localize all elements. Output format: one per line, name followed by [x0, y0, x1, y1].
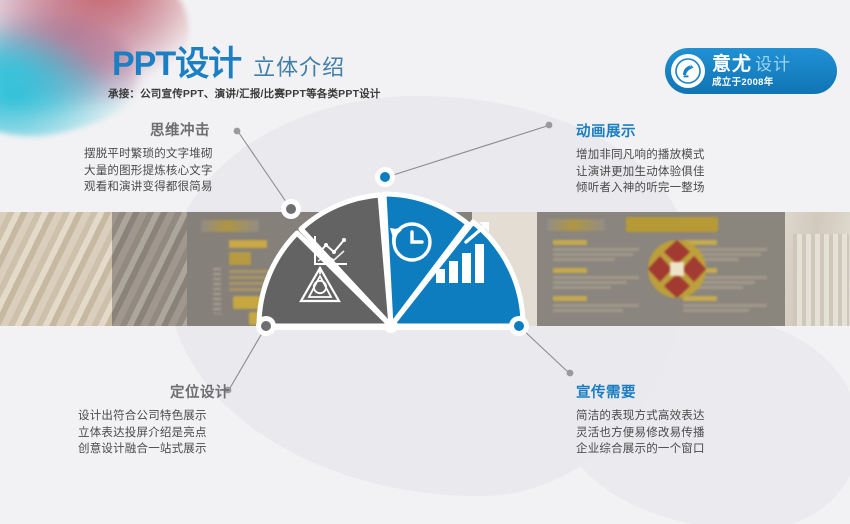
fan-node-top-left[interactable]: [281, 199, 301, 219]
slide-header: PPT设计 立体介绍 承接：公司宣传PPT、演讲/汇报/比赛PPT等各类PPT设…: [0, 0, 850, 110]
thumb-vertical-text: [213, 268, 221, 314]
page-title-sub: 立体介绍: [253, 50, 345, 82]
brand-name-primary: 意尤: [712, 55, 752, 74]
callout-bottom-right-line-1: 简洁的表现方式高效表达: [576, 408, 796, 425]
photo-building-right: [785, 212, 850, 326]
photo-wood-dark: [112, 212, 187, 326]
callout-bottom-right: 宣传需要 简洁的表现方式高效表达 灵活也方便易修改易传播 企业综合展示的一个窗口: [576, 381, 796, 458]
brand-mark-circle: [671, 54, 705, 88]
fan-node-bottom-left[interactable]: [256, 316, 276, 336]
callout-top-right-line-1: 增加非同凡响的播放模式: [576, 147, 796, 164]
page-title-main: PPT设计: [112, 47, 241, 81]
callout-bottom-left-title: 定位设计: [78, 381, 288, 402]
brand-logo-badge[interactable]: 意尤 设计 成立于2008年: [665, 48, 837, 94]
callout-top-left-line-3: 观看和演讲变得都很简易: [84, 179, 284, 196]
callout-top-left: 思维冲击 摆脱平时繁琐的文字堆砌 大量的图形提炼核心文字 观看和演讲变得都很简易: [84, 119, 284, 196]
slide-canvas: PPT设计 立体介绍 承接：公司宣传PPT、演讲/汇报/比赛PPT等各类PPT设…: [0, 0, 850, 524]
fan-node-top-right[interactable]: [375, 167, 395, 187]
fan-node-bottom-right[interactable]: [509, 316, 529, 336]
connector-dot-top-right: [546, 122, 553, 129]
callout-bottom-left: 定位设计 设计出符合公司特色展示 立体表达投屏介绍是亮点 创意设计融合一站式展示: [78, 381, 288, 458]
connector-dot-bottom-right: [567, 370, 574, 377]
brand-established: 成立于2008年: [712, 78, 791, 88]
thumb2-hex-graphic: [646, 238, 708, 300]
callout-bottom-right-title: 宣传需要: [576, 381, 796, 402]
callout-bottom-right-line-3: 企业综合展示的一个窗口: [576, 441, 796, 458]
page-subtitle: 承接：公司宣传PPT、演讲/汇报/比赛PPT等各类PPT设计: [108, 86, 381, 101]
thumb2-title-badge: [626, 217, 718, 232]
brand-name: 意尤 设计: [712, 55, 791, 74]
callout-bottom-left-line-3: 创意设计融合一站式展示: [78, 441, 288, 458]
photo-slide-thumb-2: [537, 212, 785, 326]
slide-thumb-2-content: [537, 212, 785, 326]
callout-top-right-line-2: 让演讲更加生动体验俱佳: [576, 164, 796, 181]
mouse-pointer-badge-icon: [675, 58, 701, 84]
brand-text: 意尤 设计 成立于2008年: [712, 55, 791, 88]
fan-node-center: [384, 319, 398, 333]
callout-top-right-line-3: 倾听者入神的听完一整场: [576, 180, 796, 197]
callout-bottom-right-line-2: 灵活也方便易修改易传播: [576, 425, 796, 442]
page-title: PPT设计 立体介绍: [112, 47, 345, 82]
thumb2-row-1: [553, 240, 645, 263]
callout-top-right-title: 动画展示: [576, 120, 796, 141]
callout-top-right: 动画展示 增加非同凡响的播放模式 让演讲更加生动体验俱佳 倾听者入神的听完一整场: [576, 120, 796, 197]
callout-bottom-left-line-1: 设计出符合公司特色展示: [78, 408, 288, 425]
callout-top-left-title: 思维冲击: [84, 119, 284, 140]
brand-name-secondary: 设计: [755, 56, 791, 73]
thumb2-row-2: [553, 268, 645, 291]
callout-top-left-line-1: 摆脱平时繁琐的文字堆砌: [84, 146, 284, 163]
callout-bottom-left-line-2: 立体表达投屏介绍是亮点: [78, 425, 288, 442]
photo-wood-light: [0, 212, 112, 326]
callout-top-left-line-2: 大量的图形提炼核心文字: [84, 163, 284, 180]
thumb2-row-3: [553, 296, 645, 314]
